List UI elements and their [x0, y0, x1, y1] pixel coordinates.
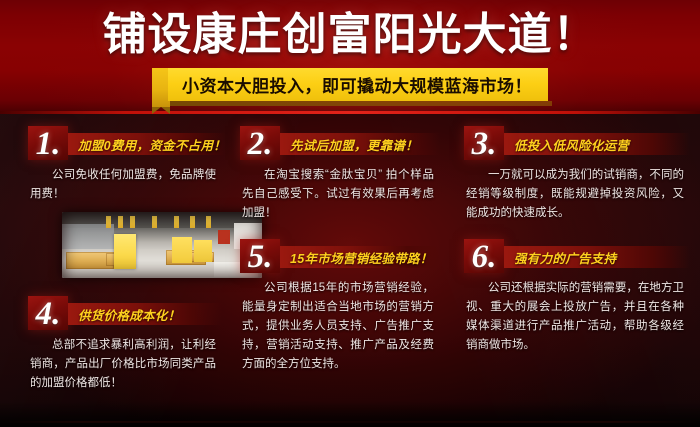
benefits-column-1: 1. 加盟0费用，资金不占用！ 公司免收任何加盟费，免品牌使用费！: [0, 126, 232, 393]
benefit-item-3: 3. 低投入低风险化运营 一万就可以成为我们的试销商，不同的经销等级制度，既能规…: [458, 126, 700, 223]
poster-header: 铺设康庄创富阳光大道！ 小资本大胆投入，即可撬动大规模蓝海市场！: [0, 0, 700, 114]
benefit-2-heading: 先试后加盟，更靠谱！: [290, 135, 418, 154]
benefit-2-number: 2.: [248, 128, 273, 161]
benefit-2-head: 2. 先试后加盟，更靠谱！: [240, 126, 440, 160]
benefit-2-number-badge: 2.: [240, 126, 280, 160]
benefit-1-heading: 加盟0费用，资金不占用！: [78, 135, 226, 154]
benefit-6-number-badge: 6.: [464, 239, 504, 273]
benefit-item-5: 5. 15年市场营销经验带路！ 公司根据15年的市场营销经验，能量身定制出适合当…: [234, 239, 450, 374]
benefits-column-3: 3. 低投入低风险化运营 一万就可以成为我们的试销商，不同的经销等级制度，既能规…: [450, 126, 700, 393]
benefit-3-body: 一万就可以成为我们的试销商，不同的经销等级制度，既能规避掉投资风险，又能成功的快…: [464, 166, 690, 223]
benefit-3-heading-bar: 低投入低风险化运营: [500, 133, 690, 155]
benefit-item-2: 2. 先试后加盟，更靠谱！ 在淘宝搜索“金肽宝贝” 拍个样品先自己感受下。试过有…: [234, 126, 450, 223]
benefit-1-number-badge: 1.: [28, 126, 68, 160]
benefit-item-4: 4. 供货价格成本化！ 总部不追求暴利高利润，让利经销商，产品出厂价格比市场同类…: [22, 296, 232, 393]
subtitle-text: 小资本大胆投入，即可撬动大规模蓝海市场！: [182, 72, 532, 97]
benefit-5-heading-bar: 15年市场营销经验带路！: [276, 246, 440, 268]
benefit-3-number-badge: 3.: [464, 126, 504, 160]
benefit-6-number: 6.: [472, 241, 497, 274]
benefit-4-head: 4. 供货价格成本化！: [28, 296, 222, 330]
page-title: 铺设康庄创富阳光大道！: [0, 8, 700, 62]
benefit-6-heading: 强有力的广告支持: [514, 248, 616, 267]
benefits-grid: 1. 加盟0费用，资金不占用！ 公司免收任何加盟费，免品牌使用费！: [0, 114, 700, 393]
benefit-3-head: 3. 低投入低风险化运营: [464, 126, 690, 160]
benefit-3-number: 3.: [472, 128, 497, 161]
benefit-2-heading-bar: 先试后加盟，更靠谱！: [276, 133, 440, 155]
benefit-1-heading-bar: 加盟0费用，资金不占用！: [64, 133, 226, 155]
benefit-5-head: 5. 15年市场营销经验带路！: [240, 239, 440, 273]
benefit-2-body: 在淘宝搜索“金肽宝贝” 拍个样品先自己感受下。试过有效果后再考虑加盟！: [240, 166, 440, 223]
benefit-6-heading-bar: 强有力的广告支持: [500, 246, 690, 268]
benefit-4-body: 总部不追求暴利高利润，让利经销商，产品出厂价格比市场同类产品的加盟价格都低！: [28, 336, 222, 393]
benefit-4-heading-bar: 供货价格成本化！: [64, 303, 222, 325]
benefit-5-number: 5.: [248, 241, 273, 274]
subtitle-banner: 小资本大胆投入，即可撬动大规模蓝海市场！: [0, 68, 700, 107]
benefit-6-body: 公司还根据实际的营销需要，在地方卫视、重大的展会上投放广告，并且在各种媒体渠道进…: [464, 279, 690, 355]
benefit-4-number: 4.: [36, 298, 61, 331]
benefit-5-body: 公司根据15年的市场营销经验，能量身定制出适合当地市场的营销方式，提供业务人员支…: [240, 279, 440, 374]
benefit-1-head: 1. 加盟0费用，资金不占用！: [28, 126, 222, 160]
benefit-6-head: 6. 强有力的广告支持: [464, 239, 690, 273]
benefit-3-heading: 低投入低风险化运营: [514, 135, 629, 154]
promo-poster: 铺设康庄创富阳光大道！ 小资本大胆投入，即可撬动大规模蓝海市场！ 1. 加盟0费: [0, 0, 700, 427]
benefit-4-heading: 供货价格成本化！: [78, 305, 180, 324]
benefit-1-body: 公司免收任何加盟费，免品牌使用费！: [28, 166, 222, 204]
subtitle-banner-body: 小资本大胆投入，即可撬动大规模蓝海市场！: [168, 68, 548, 101]
benefit-1-number: 1.: [36, 128, 61, 161]
benefit-4-number-badge: 4.: [28, 296, 68, 330]
benefit-5-number-badge: 5.: [240, 239, 280, 273]
poster-body: 1. 加盟0费用，资金不占用！ 公司免收任何加盟费，免品牌使用费！: [0, 114, 700, 427]
benefit-item-1: 1. 加盟0费用，资金不占用！ 公司免收任何加盟费，免品牌使用费！: [22, 126, 232, 278]
benefits-column-2: 2. 先试后加盟，更靠谱！ 在淘宝搜索“金肽宝贝” 拍个样品先自己感受下。试过有…: [232, 126, 450, 393]
benefit-5-heading: 15年市场营销经验带路！: [290, 248, 433, 267]
benefit-item-6: 6. 强有力的广告支持 公司还根据实际的营销需要，在地方卫视、重大的展会上投放广…: [458, 239, 700, 355]
bottom-divider-glow: [0, 421, 700, 423]
